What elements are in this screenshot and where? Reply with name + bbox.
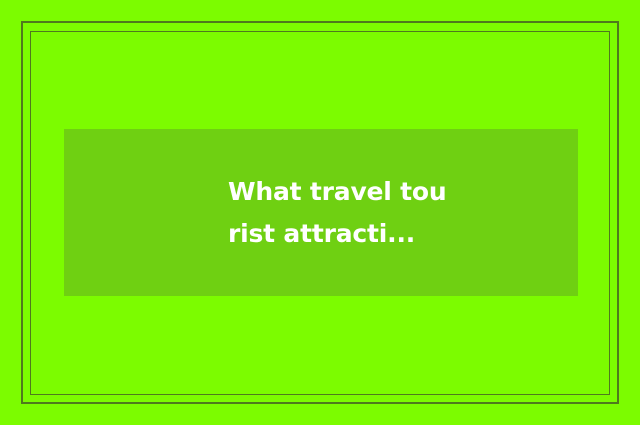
caption-line-2: rist attracti...	[228, 213, 578, 255]
canvas-stage: What travel tourist attracti...	[0, 0, 640, 425]
caption-line-1: What travel tou	[228, 171, 578, 213]
caption-panel: What travel tourist attracti...	[64, 129, 578, 296]
caption-text-block: What travel tourist attracti...	[64, 171, 578, 255]
